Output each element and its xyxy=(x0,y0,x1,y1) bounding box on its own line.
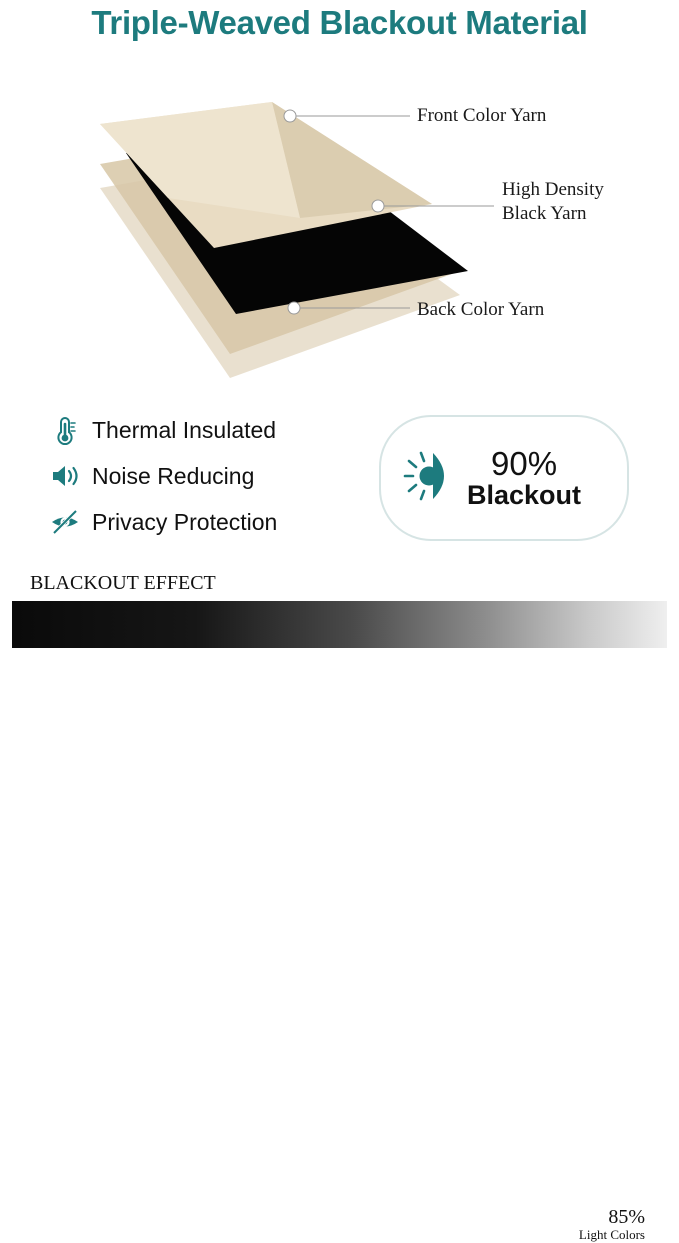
feature-label: Noise Reducing xyxy=(92,463,254,490)
gradient-left-caption: Darker Colors xyxy=(34,1227,108,1243)
gradient-right-label: 85% Light Colors xyxy=(579,1207,645,1243)
speaker-mute-icon xyxy=(48,459,82,493)
gradient-left-percent: 99% xyxy=(34,1207,108,1227)
callout-label-front: Front Color Yarn xyxy=(417,104,546,128)
gradient-right-caption: Light Colors xyxy=(579,1227,645,1243)
callout-label-high-density: High Density Black Yarn xyxy=(502,178,604,226)
thermometer-icon xyxy=(48,413,82,447)
blackout-badge: 90% Blackout xyxy=(379,415,629,541)
badge-word: Blackout xyxy=(467,481,581,510)
eye-off-icon xyxy=(48,505,82,539)
feature-label: Privacy Protection xyxy=(92,509,277,536)
blackout-gradient-bar: 99% Darker Colors 85% Light Colors xyxy=(12,601,667,648)
feature-item-privacy-protection: Privacy Protection xyxy=(48,500,378,544)
feature-item-noise-reducing: Noise Reducing xyxy=(48,454,378,498)
callout-label-back: Back Color Yarn xyxy=(417,298,544,322)
feature-label: Thermal Insulated xyxy=(92,417,276,444)
gradient-left-label: 99% Darker Colors xyxy=(34,1207,108,1243)
gradient-right-percent: 85% xyxy=(579,1207,645,1227)
badge-percent: 90% xyxy=(491,446,557,482)
sun-blocked-icon xyxy=(399,445,461,512)
feature-item-thermal-insulated: Thermal Insulated xyxy=(48,408,378,452)
page-title: Triple-Weaved Blackout Material xyxy=(0,0,679,42)
fabric-layers-diagram: Front Color Yarn High Density Black Yarn… xyxy=(0,58,679,388)
blackout-effect-title: BLACKOUT EFFECT xyxy=(30,572,216,595)
feature-list: Thermal Insulated Noise Reducing Privacy… xyxy=(48,408,378,546)
